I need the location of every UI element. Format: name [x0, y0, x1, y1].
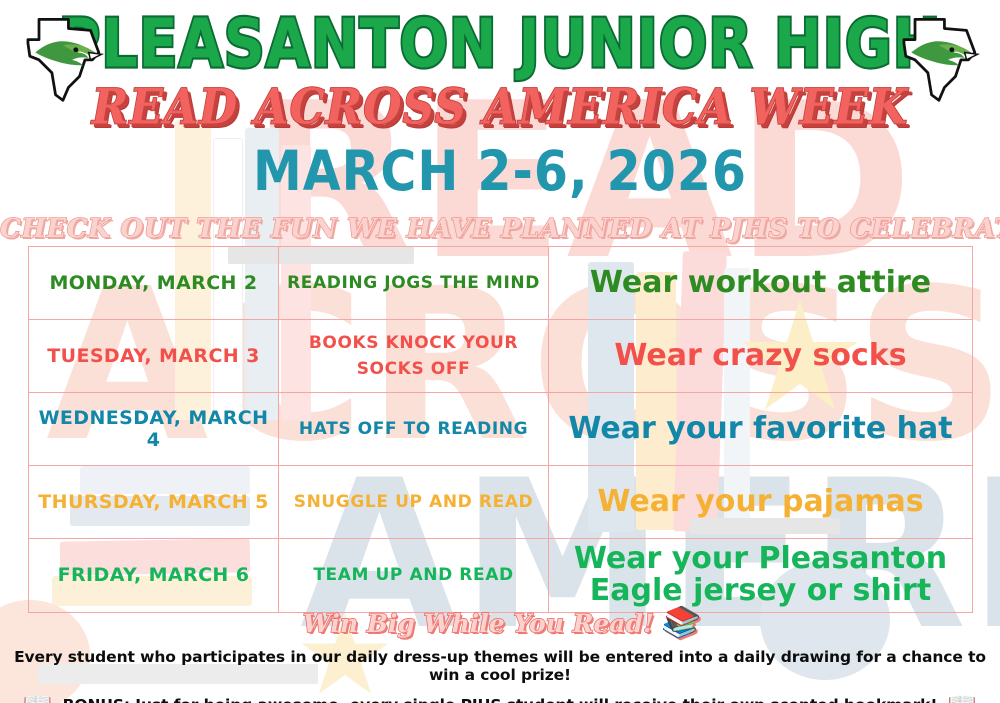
- table-row: THURSDAY, MARCH 5 SNUGGLE UP AND READ We…: [29, 466, 973, 539]
- schedule-table: MONDAY, MARCH 2 READING JOGS THE MIND We…: [28, 246, 973, 613]
- cell-theme: READING JOGS THE MIND: [279, 247, 549, 320]
- cell-dress: Wear workout attire: [549, 247, 973, 320]
- page-title: PLEASANTON JUNIOR HIGH: [0, 10, 1000, 79]
- event-subheadline: CHECK OUT THE FUN WE HAVE PLANNED AT PJH…: [0, 214, 1000, 244]
- cell-day: MONDAY, MARCH 2: [29, 247, 279, 320]
- cell-day: TUESDAY, MARCH 3: [29, 320, 279, 393]
- cell-dress: Wear your pajamas: [549, 466, 973, 539]
- win-big-text: Win Big While You Read!: [303, 609, 654, 638]
- cell-day: WEDNESDAY, MARCH 4: [29, 393, 279, 466]
- books-stack-icon: 📚: [660, 608, 697, 638]
- table-row: WEDNESDAY, MARCH 4 HATS OFF TO READING W…: [29, 393, 973, 466]
- table-row: MONDAY, MARCH 2 READING JOGS THE MIND We…: [29, 247, 973, 320]
- cell-dress: Wear your favorite hat: [549, 393, 973, 466]
- prize-note: Every student who participates in our da…: [0, 648, 1000, 684]
- poster-footer: Win Big While You Read! 📚 Every student …: [0, 608, 1000, 703]
- table-row: TUESDAY, MARCH 3 BOOKS KNOCK YOUR SOCKS …: [29, 320, 973, 393]
- cell-theme: SNUGGLE UP AND READ: [279, 466, 549, 539]
- bonus-note-row: 📖 BONUS: Just for being awesome, every s…: [0, 693, 1000, 703]
- cell-day: FRIDAY, MARCH 6: [29, 539, 279, 613]
- table-row: FRIDAY, MARCH 6 TEAM UP AND READ Wear yo…: [29, 539, 973, 613]
- cell-day: THURSDAY, MARCH 5: [29, 466, 279, 539]
- cell-dress: Wear your Pleasanton Eagle jersey or shi…: [549, 539, 973, 613]
- reading-face-icon: 📖: [947, 693, 977, 703]
- cell-theme: HATS OFF TO READING: [279, 393, 549, 466]
- event-dates: MARCH 2-6, 2026: [0, 140, 1000, 204]
- poster-header: PLEASANTON JUNIOR HIGH READ ACROSS AMERI…: [0, 0, 1000, 244]
- texas-eagle-logo: [10, 12, 114, 104]
- cell-theme: BOOKS KNOCK YOUR SOCKS OFF: [279, 320, 549, 393]
- texas-eagle-logo: [886, 12, 990, 104]
- win-big-headline: Win Big While You Read! 📚: [303, 608, 698, 638]
- cell-dress: Wear crazy socks: [549, 320, 973, 393]
- bonus-note: BONUS: Just for being awesome, every sin…: [63, 696, 938, 703]
- reading-face-icon: 📖: [23, 693, 53, 703]
- event-title: READ ACROSS AMERICA WEEK: [0, 80, 1000, 136]
- cell-theme: TEAM UP AND READ: [279, 539, 549, 613]
